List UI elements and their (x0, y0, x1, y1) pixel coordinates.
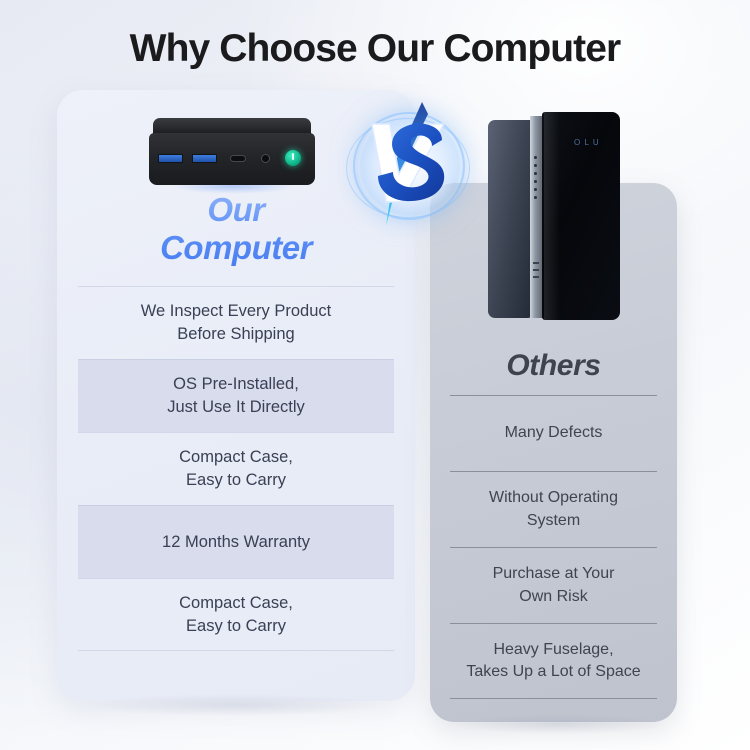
mini-pc-image (149, 118, 315, 186)
others-card-shadow (452, 714, 662, 734)
list-item: Compact Case, Easy to Carry (78, 432, 394, 505)
ours-feature-line2: Easy to Carry (179, 615, 293, 638)
mini-pc-front-ports (158, 147, 306, 169)
ours-card-shadow (92, 694, 382, 716)
power-button-icon (285, 150, 301, 166)
ours-feature-line2: Easy to Carry (179, 469, 293, 492)
others-feature-line1: Heavy Fuselage, (466, 639, 640, 661)
others-feature-line2: System (489, 510, 618, 532)
others-feature-list: Many Defects Without Operating System Pu… (450, 395, 657, 699)
list-item: OS Pre-Installed, Just Use It Directly (78, 359, 394, 432)
list-item: Many Defects (450, 395, 657, 471)
list-item: Compact Case, Easy to Carry (78, 578, 394, 651)
ours-feature-line2: Before Shipping (141, 323, 331, 346)
tower-rear-ports-icon (533, 262, 539, 278)
audio-jack-icon (261, 154, 270, 163)
others-feature-line1: Purchase at Your (493, 563, 615, 585)
ours-feature-line1: Compact Case, (179, 446, 293, 469)
tower-indicator-dots-icon (534, 156, 537, 199)
list-item: Without Operating System (450, 471, 657, 547)
tower-pc-image: O L U (488, 112, 620, 320)
usb-a-port-icon (192, 154, 217, 163)
ours-heading-line2: Computer (57, 229, 415, 267)
others-feature-line1: Without Operating (489, 487, 618, 509)
tower-logo: O L U (574, 138, 600, 147)
usb-a-port-icon (158, 154, 183, 163)
tower-gloss-highlight (544, 112, 560, 320)
ours-feature-list: We Inspect Every Product Before Shipping… (78, 286, 394, 651)
list-item: We Inspect Every Product Before Shipping (78, 286, 394, 359)
page-title: Why Choose Our Computer (0, 27, 750, 71)
ours-feature-line1: 12 Months Warranty (162, 531, 310, 554)
others-feature-line2: Takes Up a Lot of Space (466, 661, 640, 683)
ours-feature-line1: Compact Case, (179, 592, 293, 615)
others-heading: Others (430, 349, 677, 383)
list-item: Heavy Fuselage, Takes Up a Lot of Space (450, 623, 657, 699)
ours-feature-line1: OS Pre-Installed, (167, 373, 305, 396)
others-feature-line2: Own Risk (493, 586, 615, 608)
list-item: Purchase at Your Own Risk (450, 547, 657, 623)
ours-feature-line2: Just Use It Directly (167, 396, 305, 419)
versus-letters-icon (344, 100, 480, 230)
tower-side-panel (488, 120, 532, 318)
ours-feature-line1: We Inspect Every Product (141, 300, 331, 323)
others-feature-line1: Many Defects (505, 422, 603, 444)
usb-c-port-icon (230, 155, 246, 162)
versus-badge (344, 100, 480, 230)
list-item: 12 Months Warranty (78, 505, 394, 578)
